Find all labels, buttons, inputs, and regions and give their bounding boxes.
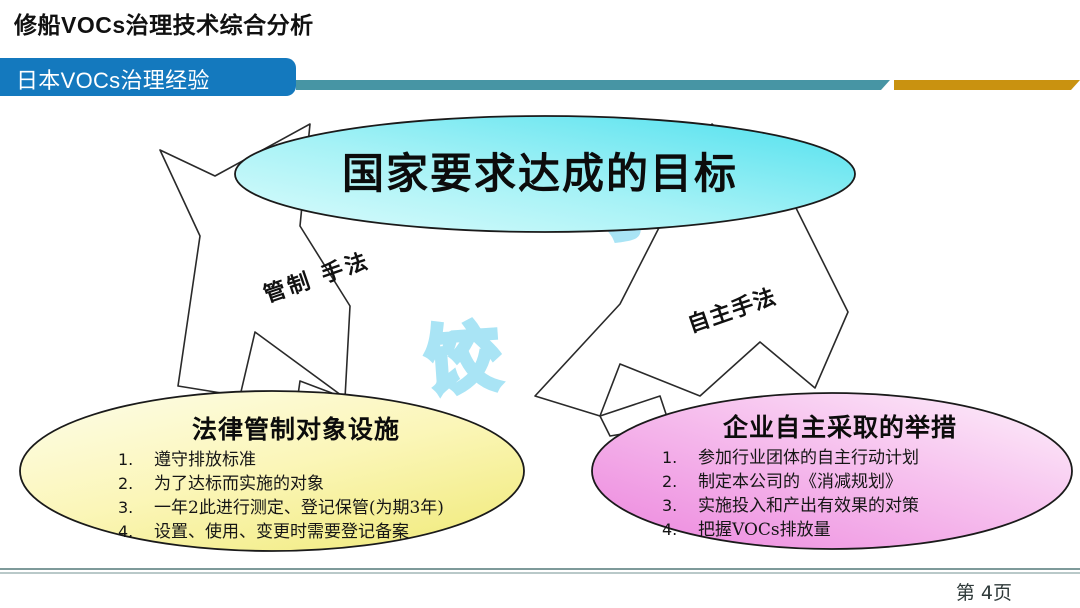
slide-canvas: 修船VOCs治理技术综合分析 日本VOCs治理经验 小 包 饺 交 饺 bbox=[0, 0, 1080, 608]
voluntary-corporate-measures-oval bbox=[592, 393, 1072, 549]
goal-oval bbox=[235, 116, 855, 232]
section-tab-label: 日本VOCs治理经验 bbox=[16, 63, 210, 95]
footer-rule-bottom bbox=[0, 572, 1080, 574]
legal-regulated-facilities-oval bbox=[20, 391, 524, 551]
diagram-shapes bbox=[0, 96, 1080, 556]
page-number: 第 4页 bbox=[956, 578, 1012, 605]
header-rule-gold bbox=[894, 80, 1080, 90]
header-rule-teal bbox=[296, 80, 890, 90]
section-tab[interactable]: 日本VOCs治理经验 bbox=[0, 58, 296, 96]
page-title: 修船VOCs治理技术综合分析 bbox=[14, 6, 314, 40]
footer-rule-top bbox=[0, 568, 1080, 570]
